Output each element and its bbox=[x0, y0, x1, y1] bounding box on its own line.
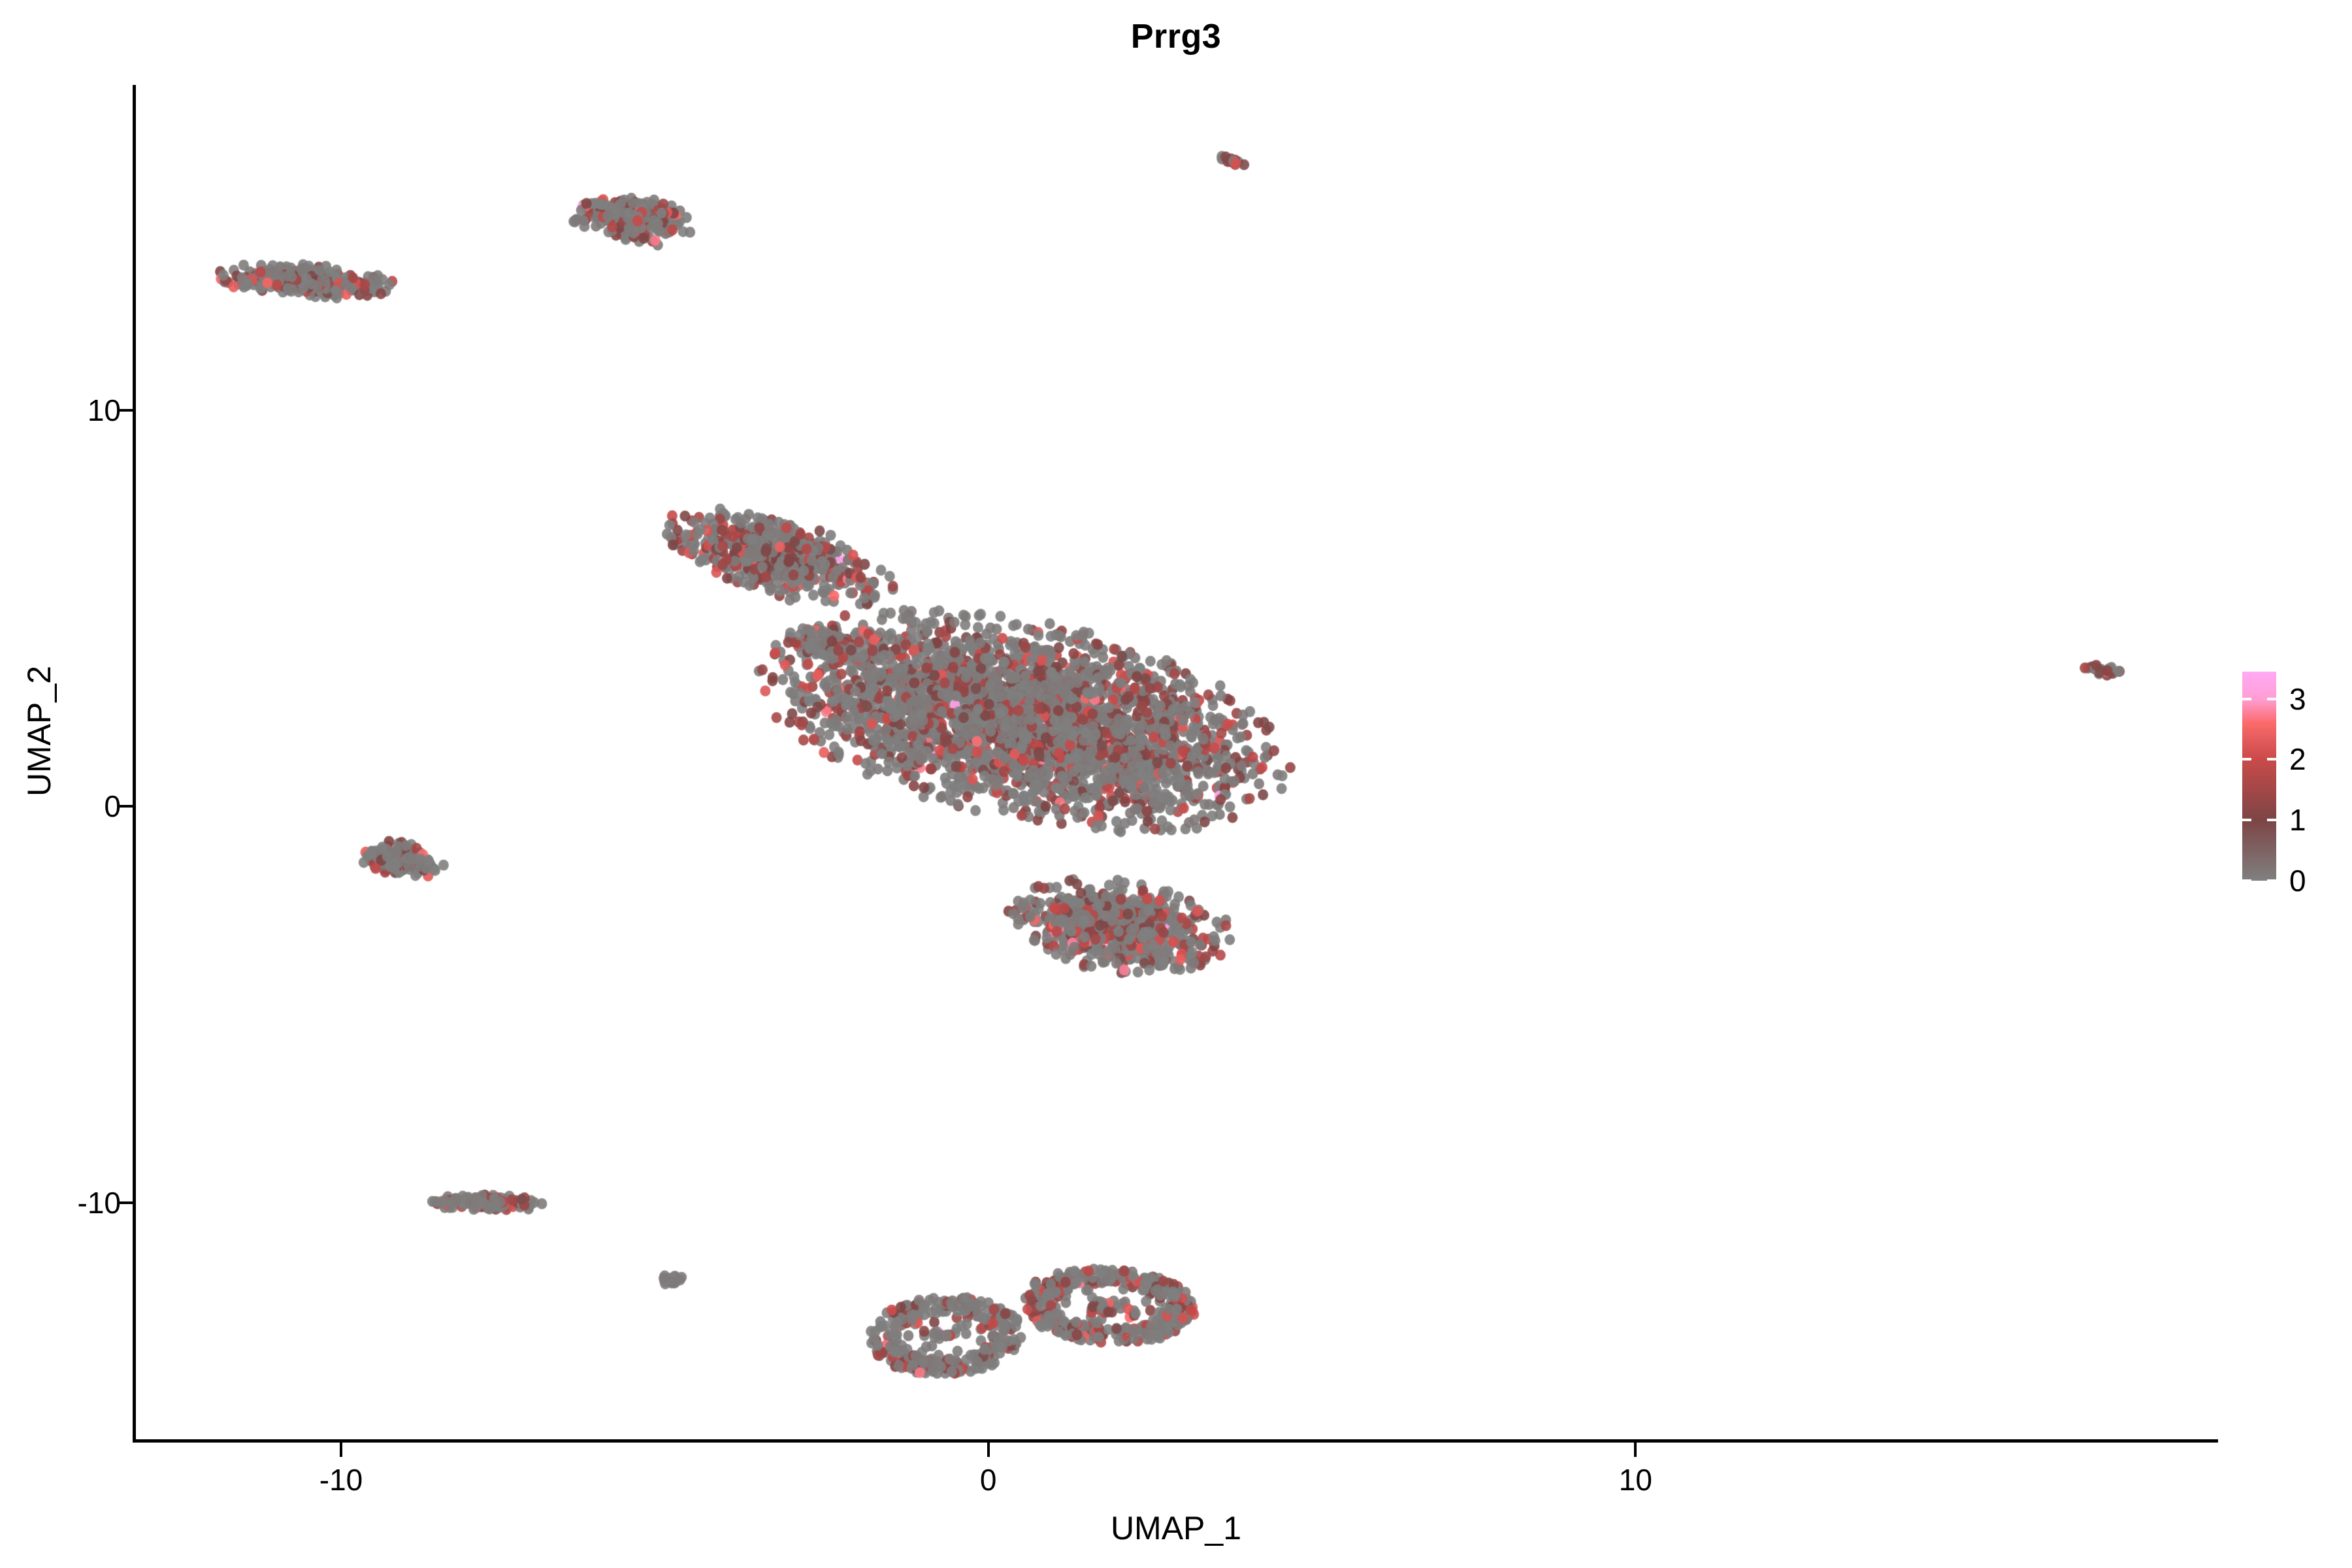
colorbar-label: 0 bbox=[2289, 863, 2306, 898]
colorbar-tick-mark bbox=[2242, 879, 2251, 882]
x-axis-title: UMAP_1 bbox=[134, 1509, 2218, 1547]
colorbar-label: 1 bbox=[2289, 802, 2306, 838]
colorbar-tick-mark bbox=[2267, 698, 2276, 700]
y-axis-line bbox=[133, 85, 136, 1442]
x-tick-label: -10 bbox=[319, 1462, 363, 1497]
colorbar-label: 3 bbox=[2289, 681, 2306, 717]
colorbar-tick-mark bbox=[2267, 819, 2276, 821]
y-tick-label: -10 bbox=[78, 1185, 121, 1220]
colorbar-tick-mark bbox=[2242, 819, 2251, 821]
colorbar-tick-mark bbox=[2242, 698, 2251, 700]
x-tick-mark bbox=[987, 1443, 990, 1457]
x-tick-label: 0 bbox=[980, 1462, 997, 1497]
colorbar-tick-mark bbox=[2267, 758, 2276, 760]
umap-feature-plot: Prrg3 -10010 -10010 UMAP_1 UMAP_2 0123 bbox=[0, 0, 2352, 1568]
colorbar-tick-mark bbox=[2267, 879, 2276, 882]
x-tick-mark bbox=[1634, 1443, 1637, 1457]
scatter-canvas bbox=[134, 85, 2218, 1441]
x-tick-label: 10 bbox=[1619, 1462, 1652, 1497]
plot-panel bbox=[134, 85, 2218, 1441]
y-tick-label: 0 bbox=[104, 789, 121, 824]
colorbar-gradient bbox=[2242, 672, 2276, 881]
colorbar-label: 2 bbox=[2289, 742, 2306, 777]
x-axis-line bbox=[133, 1439, 2218, 1443]
colorbar-tick-mark bbox=[2242, 758, 2251, 760]
page-title: Prrg3 bbox=[0, 17, 2352, 56]
y-axis-title: UMAP_2 bbox=[20, 437, 58, 1025]
y-tick-label: 10 bbox=[88, 393, 121, 428]
colorbar-legend: 0123 bbox=[2242, 672, 2340, 887]
x-tick-mark bbox=[340, 1443, 342, 1457]
